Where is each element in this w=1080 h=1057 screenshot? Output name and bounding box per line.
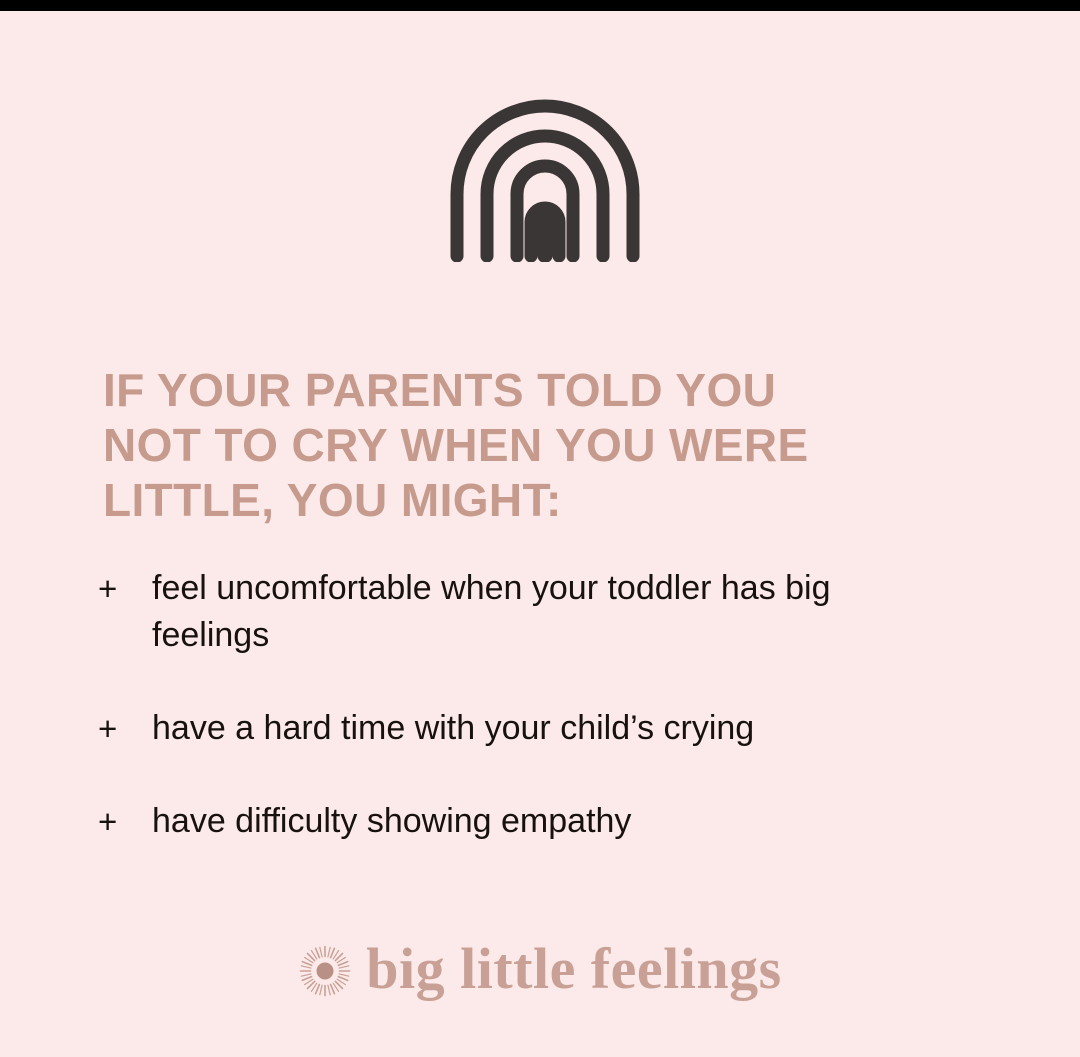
list-item-text: have difficulty showing empathy: [152, 798, 912, 845]
list-item: + have a hard time with your child’s cry…: [98, 705, 998, 752]
headline-line-2: NOT TO CRY WHEN YOU WERE: [103, 418, 983, 473]
letterbox-bar-top: [0, 0, 1080, 11]
rainbow-arch-icon: [445, 94, 645, 262]
list-item: + feel uncomfortable when your toddler h…: [98, 565, 998, 659]
headline-line-1: IF YOUR PARENTS TOLD YOU: [103, 363, 983, 418]
list-item-text: feel uncomfortable when your toddler has…: [152, 565, 912, 659]
headline-line-3: LITTLE, YOU MIGHT:: [103, 473, 983, 528]
plus-icon: +: [98, 798, 152, 845]
page-title: IF YOUR PARENTS TOLD YOU NOT TO CRY WHEN…: [103, 363, 983, 528]
bullet-list: + feel uncomfortable when your toddler h…: [98, 565, 998, 845]
list-item: + have difficulty showing empathy: [98, 798, 998, 845]
brand-name: big little feelings: [366, 938, 781, 1000]
brand-logotype: big little feelings: [0, 938, 1080, 1000]
plus-icon: +: [98, 565, 152, 612]
plus-icon: +: [98, 705, 152, 752]
list-item-text: have a hard time with your child’s cryin…: [152, 705, 912, 752]
sunburst-icon: [298, 944, 352, 998]
poster-canvas: IF YOUR PARENTS TOLD YOU NOT TO CRY WHEN…: [0, 0, 1080, 1057]
